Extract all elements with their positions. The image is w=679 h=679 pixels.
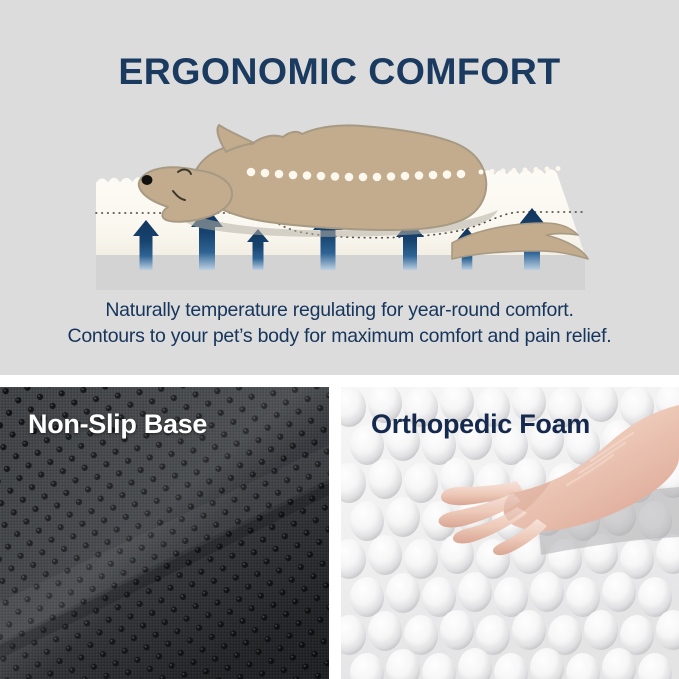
page-title: ERGONOMIC COMFORT <box>0 50 679 93</box>
caption-line-1: Naturally temperature regulating for yea… <box>0 298 679 324</box>
orthopedic-foam-caption: Orthopedic Foam <box>371 409 590 440</box>
caption-line-2: Contours to your pet’s body for maximum … <box>0 324 679 350</box>
non-slip-base-panel[interactable]: Non-Slip Base <box>0 387 329 679</box>
ergonomic-comfort-panel: ERGONOMIC COMFORT <box>0 0 679 375</box>
dog-on-memory-foam-mattress-diagram <box>0 110 679 290</box>
feature-panels-row: Non-Slip Base <box>0 387 679 679</box>
orthopedic-foam-panel[interactable]: Orthopedic Foam <box>341 387 679 679</box>
caption-block: Naturally temperature regulating for yea… <box>0 298 679 349</box>
non-slip-base-caption: Non-Slip Base <box>28 409 207 440</box>
dog-nose <box>142 175 153 185</box>
